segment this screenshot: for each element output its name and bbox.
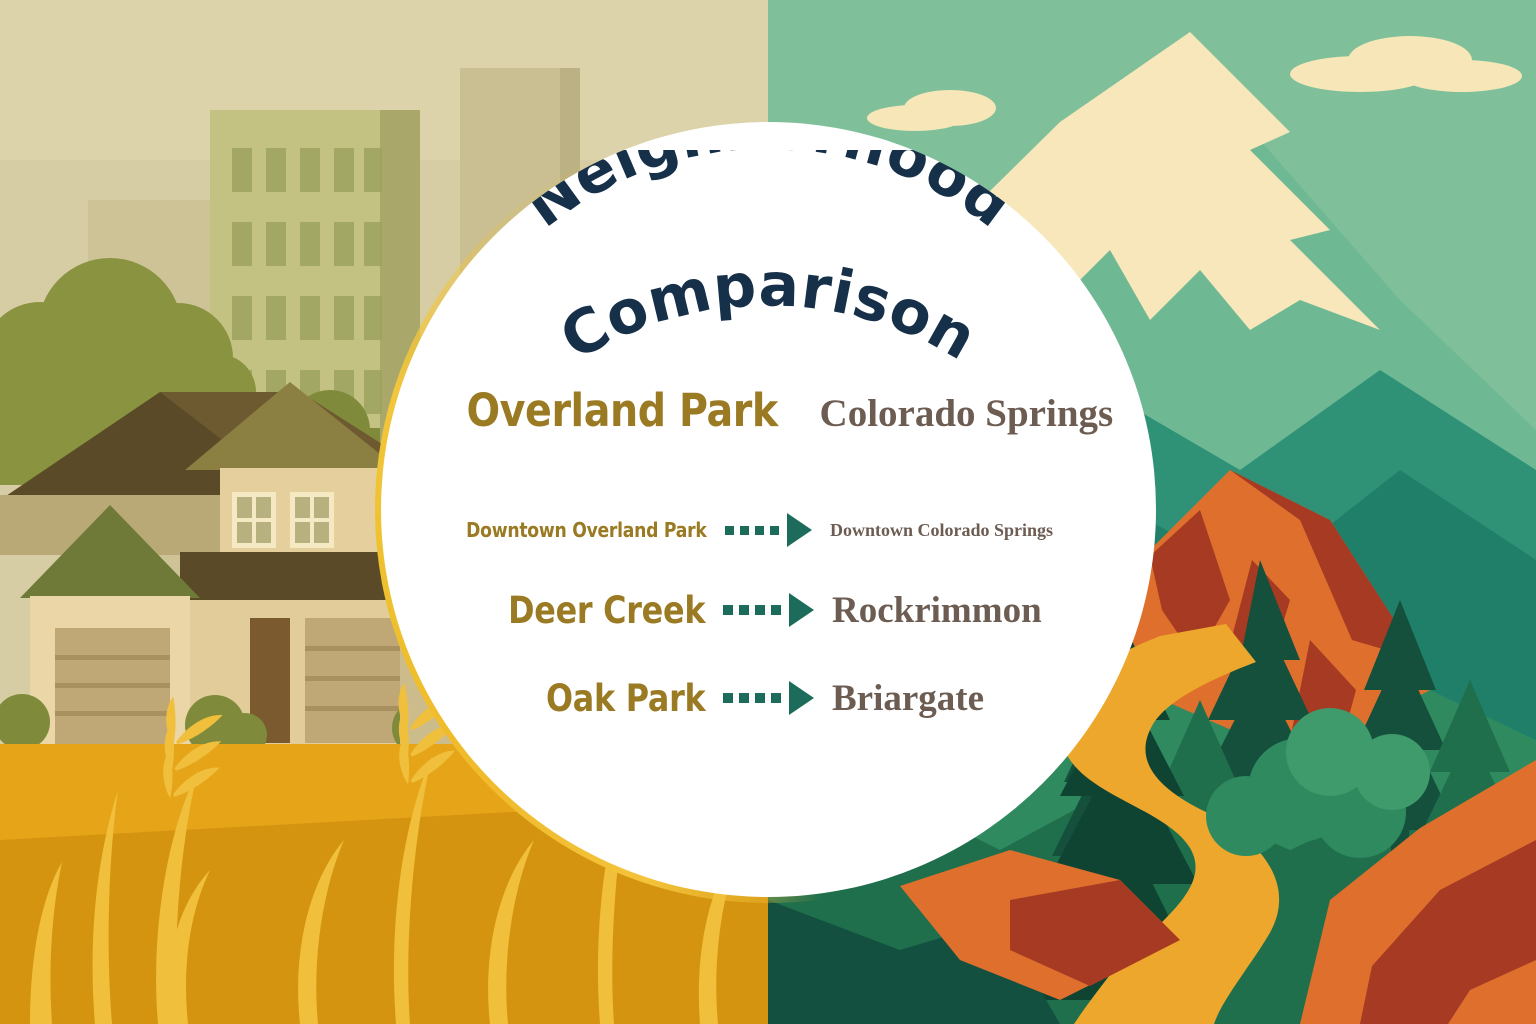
- comparison-card: Neighborhood Comparison Overland Park Co…: [381, 122, 1156, 897]
- arrow-dash: [771, 605, 781, 615]
- neighborhood-left: Oak Park: [545, 677, 705, 720]
- row-right-cell: Briargate: [814, 677, 1156, 720]
- dotted-arrow-icon: [723, 681, 814, 715]
- row-right-cell: Rockrimmon: [814, 589, 1156, 632]
- row-left-cell: Oak Park: [381, 677, 723, 720]
- arrow-dash: [755, 605, 765, 615]
- city-header-right: Colorado Springs: [820, 391, 1114, 436]
- arrow-dash: [739, 605, 749, 615]
- arrow-dash: [725, 526, 734, 535]
- arrow-head: [789, 593, 814, 627]
- arrow-dash: [739, 693, 749, 703]
- arrow-dash: [770, 526, 779, 535]
- city-header-left: Overland Park: [466, 384, 777, 437]
- poster-canvas: Neighborhood Comparison Overland Park Co…: [0, 0, 1536, 1024]
- neighborhood-right: Rockrimmon: [832, 589, 1042, 632]
- arrow-dash: [771, 693, 781, 703]
- dotted-arrow-icon: [725, 513, 812, 547]
- arrow-dash: [740, 526, 749, 535]
- city-headers: Overland Park Colorado Springs: [381, 384, 1156, 437]
- row-right-cell: Downtown Colorado Springs: [812, 520, 1156, 541]
- arrow-head: [789, 681, 814, 715]
- row-left-cell: Downtown Overland Park: [381, 518, 725, 542]
- title-line-2: Comparison: [549, 250, 988, 374]
- arrow-dash: [755, 526, 764, 535]
- neighborhood-right: Downtown Colorado Springs: [830, 520, 1053, 541]
- comparison-rows: Downtown Overland Park Downtown Colorado…: [381, 494, 1156, 742]
- neighborhood-left: Deer Creek: [508, 589, 705, 632]
- comparison-row: Downtown Overland Park Downtown Colorado…: [381, 494, 1156, 566]
- arrow-dash: [723, 693, 733, 703]
- dotted-arrow-icon: [723, 593, 814, 627]
- comparison-row: Oak Park Briargate: [381, 654, 1156, 742]
- arrow-head: [787, 513, 812, 547]
- arrow-dash: [723, 605, 733, 615]
- arrow-dash: [755, 693, 765, 703]
- comparison-row: Deer Creek Rockrimmon: [381, 566, 1156, 654]
- row-left-cell: Deer Creek: [381, 589, 723, 632]
- neighborhood-right: Briargate: [832, 677, 984, 720]
- neighborhood-left: Downtown Overland Park: [467, 518, 707, 542]
